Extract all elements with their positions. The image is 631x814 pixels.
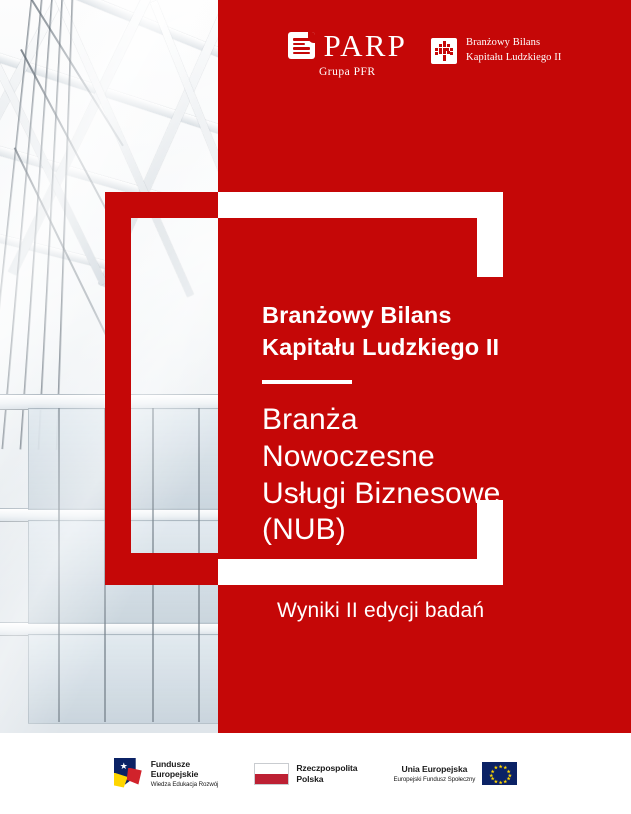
title-divider-rule xyxy=(262,380,352,384)
parp-flag-icon xyxy=(288,32,315,59)
unia-europejska-label: Unia Europejska Europejski Fundusz Społe… xyxy=(393,764,475,783)
parp-logo[interactable]: PARP Grupa PFR xyxy=(288,30,408,78)
fe-name-line1: Fundusze xyxy=(151,759,190,769)
eu-flag-icon: ★ ★ ★ ★ ★ ★ ★ ★ ★ ★ ★ ★ xyxy=(482,762,517,785)
ue-name-line1: Unia Europejska xyxy=(401,764,467,774)
bbkl-logo[interactable]: Branżowy Bilans Kapitału Ludzkiego II xyxy=(431,36,561,64)
bbkl-line-2: Kapitału Ludzkiego II xyxy=(466,51,561,65)
page-subtitle: Branża Nowoczesne Usługi Biznesowe (NUB) xyxy=(262,402,582,548)
rp-name-line1: Rzeczpospolita xyxy=(296,763,357,773)
fe-name-line2: Europejskie xyxy=(151,769,199,779)
frame-bottom-bar xyxy=(218,559,503,585)
edition-caption: Wyniki II edycji badań xyxy=(277,599,484,623)
document-cover-page: PARP Grupa PFR xyxy=(0,0,631,814)
frame-top-corner xyxy=(477,192,503,277)
bbkl-line-1: Branżowy Bilans xyxy=(466,36,561,50)
subtitle-line-4: (NUB) xyxy=(262,513,346,546)
rp-name-line2: Polska xyxy=(296,774,323,784)
subtitle-line-3: Usługi Biznesowe xyxy=(262,477,500,510)
logo-rzeczpospolita-polska[interactable]: Rzeczpospolita Polska xyxy=(254,763,357,785)
footer-logo-bar: ★ Fundusze Europejskie Wiedza Edukacja R… xyxy=(0,733,631,814)
logo-unia-europejska[interactable]: ★ ★ ★ ★ ★ ★ ★ ★ ★ ★ ★ ★ Unia Europejska … xyxy=(393,762,517,785)
fundusze-europejskie-label: Fundusze Europejskie Wiedza Edukacja Roz… xyxy=(151,759,219,788)
frame-top-bar xyxy=(218,192,503,218)
rzeczpospolita-polska-label: Rzeczpospolita Polska xyxy=(296,763,357,783)
fe-subtitle: Wiedza Edukacja Rozwój xyxy=(151,781,219,788)
bbkl-wordmark: Branżowy Bilans Kapitału Ludzkiego II xyxy=(466,36,561,64)
cover-title-block: Branżowy Bilans Kapitału Ludzkiego II Br… xyxy=(262,300,582,549)
parp-tagline: Grupa PFR xyxy=(319,66,376,78)
title-line-1: Branżowy Bilans xyxy=(262,302,452,328)
poland-flag-icon xyxy=(254,763,289,785)
logo-fundusze-europejskie[interactable]: ★ Fundusze Europejskie Wiedza Edukacja R… xyxy=(114,758,219,790)
photo-window-cutout xyxy=(131,218,218,553)
subtitle-line-2: Nowoczesne xyxy=(262,440,435,473)
ue-subtitle: Europejski Fundusz Społeczny xyxy=(393,776,475,783)
parp-wordmark: PARP xyxy=(324,30,408,61)
title-line-2: Kapitału Ludzkiego II xyxy=(262,334,499,360)
bbkl-tree-icon xyxy=(431,38,457,64)
subtitle-line-1: Branża xyxy=(262,403,358,436)
window-floor-levels xyxy=(131,330,218,553)
header-logo-bar: PARP Grupa PFR xyxy=(218,0,631,110)
fundusze-europejskie-icon: ★ xyxy=(114,758,144,790)
page-title: Branżowy Bilans Kapitału Ludzkiego II xyxy=(262,300,582,363)
